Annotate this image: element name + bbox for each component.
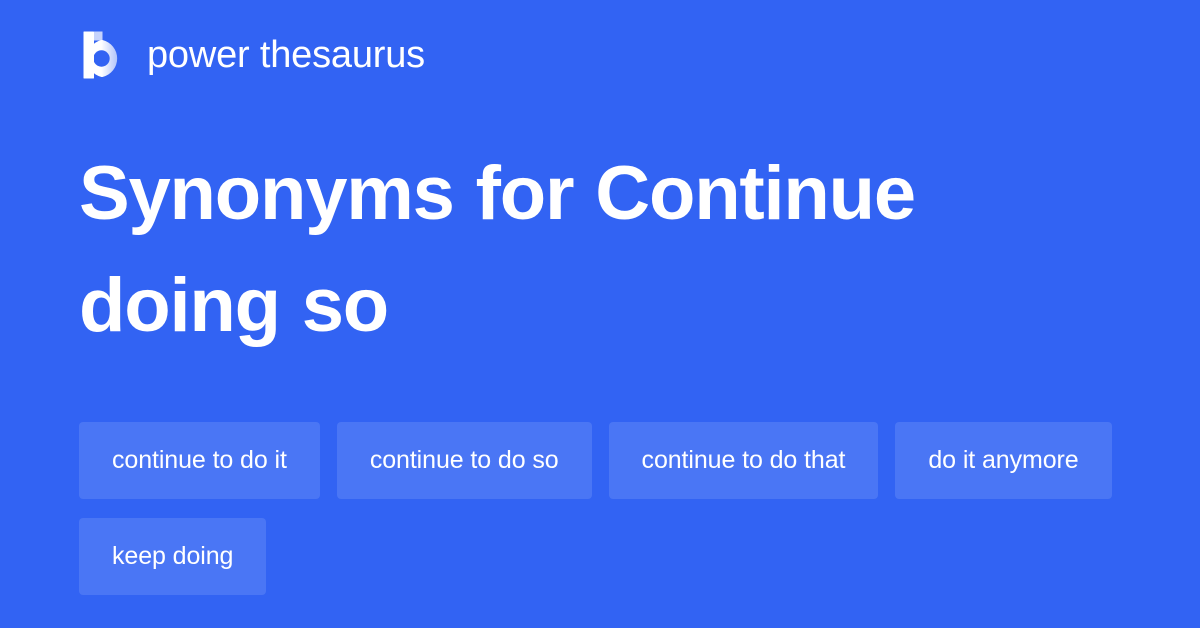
- power-thesaurus-b-logo-icon: [79, 30, 125, 80]
- synonym-chip[interactable]: keep doing: [79, 518, 266, 595]
- synonym-chip[interactable]: continue to do it: [79, 422, 320, 499]
- synonym-chip-list: continue to do it continue to do so cont…: [79, 422, 1124, 595]
- share-card-root: power thesaurus Synonyms for Continue do…: [0, 0, 1200, 628]
- page-title: Synonyms for Continue doing so: [79, 138, 1119, 362]
- synonym-chip[interactable]: do it anymore: [895, 422, 1111, 499]
- synonym-chip[interactable]: continue to do so: [337, 422, 592, 499]
- brand-name: power thesaurus: [147, 36, 425, 74]
- synonym-chip[interactable]: continue to do that: [609, 422, 879, 499]
- brand-header[interactable]: power thesaurus: [79, 25, 425, 85]
